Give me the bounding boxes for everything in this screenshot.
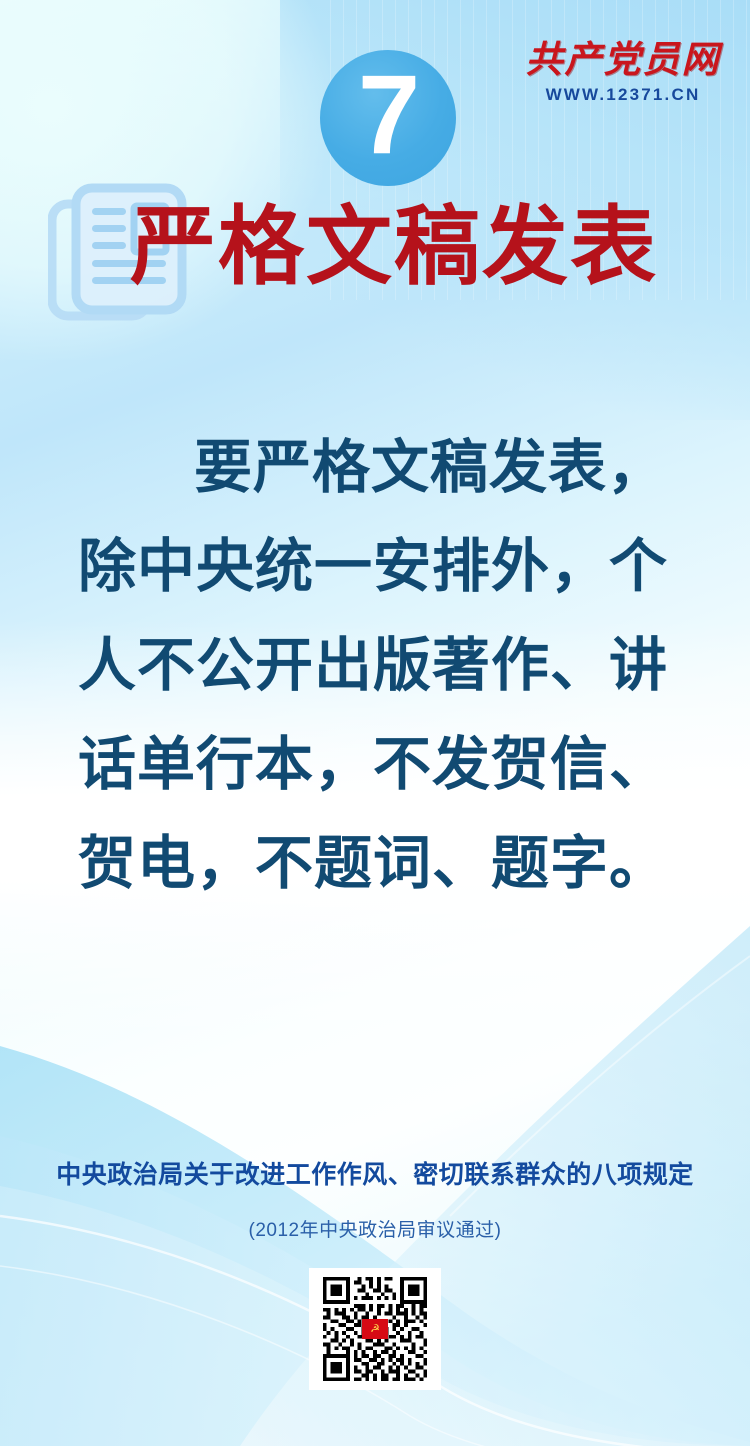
- party-emblem-glyph: ☭: [370, 1324, 380, 1335]
- step-number-badge: 7: [320, 50, 456, 186]
- page-title: 严格文稿发表: [130, 204, 658, 290]
- qr-code[interactable]: ☭: [309, 1268, 441, 1390]
- party-emblem-icon: ☭: [362, 1319, 388, 1339]
- poster-canvas: 7 共产党员网 WWW.12371.CN 严格文稿发表 要严格文稿发表，除中央统…: [0, 0, 750, 1446]
- footer-regulation-title: 中央政治局关于改进工作作风、密切联系群众的八项规定: [0, 1155, 750, 1191]
- footer-regulation-subtitle: (2012年中央政治局审议通过): [0, 1215, 750, 1242]
- brand-name-text: 共产党员网: [518, 42, 728, 79]
- brand-logo[interactable]: 共产党员网 WWW.12371.CN: [518, 42, 728, 105]
- step-number-value: 7: [358, 59, 418, 171]
- brand-url-text: WWW.12371.CN: [518, 85, 728, 105]
- body-paragraph: 要严格文稿发表，除中央统一安排外，个人不公开出版著作、讲话单行本，不发贺信、贺电…: [78, 418, 678, 913]
